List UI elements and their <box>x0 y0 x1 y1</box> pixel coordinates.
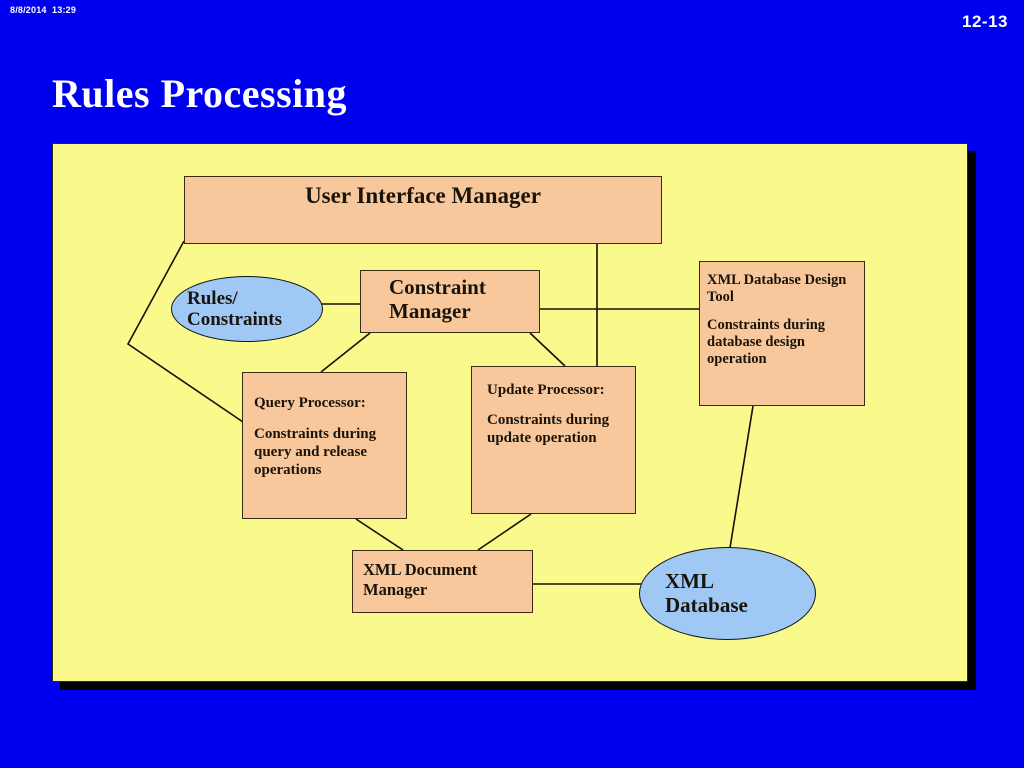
node-xml-database-design-tool[interactable]: XML Database Design Tool Constraints dur… <box>699 261 865 406</box>
slide-datetime: 8/8/2014 13:29 <box>10 5 76 15</box>
node-uim-title: User Interface Manager <box>185 183 661 209</box>
node-xmldbtool-body: Constraints during database design opera… <box>707 317 856 368</box>
node-update-body: Constraints during update operation <box>487 411 629 447</box>
node-query-processor[interactable]: Query Processor: Constraints during quer… <box>242 372 407 519</box>
edge-constraint-query <box>321 333 370 372</box>
edge-update-xmldoc <box>478 514 531 550</box>
node-rules-line2: Constraints <box>187 309 282 330</box>
edge-xmldbtool-xmldb <box>729 406 753 554</box>
node-xml-document-manager[interactable]: XML Document Manager <box>352 550 533 613</box>
edge-constraint-update <box>530 333 565 366</box>
node-constraint-manager[interactable]: Constraint Manager <box>360 270 540 333</box>
node-xmldb-line1: XML <box>665 570 748 594</box>
node-query-title: Query Processor: <box>254 394 400 412</box>
node-query-body: Constraints during query and release ope… <box>254 425 400 479</box>
diagram-panel: User Interface Manager Rules/ Constraint… <box>52 143 968 682</box>
slide-canvas: 8/8/2014 13:29 12-13 Rules Processing <box>0 0 1024 768</box>
node-xmldb-line2: Database <box>665 594 748 618</box>
node-user-interface-manager[interactable]: User Interface Manager <box>184 176 662 244</box>
node-rules-line1: Rules/ <box>187 288 282 309</box>
diagram-canvas: User Interface Manager Rules/ Constraint… <box>53 144 967 681</box>
node-xml-database[interactable]: XML Database <box>639 547 816 640</box>
node-update-title: Update Processor: <box>487 381 629 399</box>
page-title: Rules Processing <box>52 70 347 117</box>
node-update-processor[interactable]: Update Processor: Constraints during upd… <box>471 366 636 514</box>
edge-query-xmldoc <box>356 519 403 550</box>
node-rules-constraints[interactable]: Rules/ Constraints <box>171 276 323 342</box>
node-xmldoc-line2: Manager <box>363 580 526 600</box>
node-constraint-line1: Constraint <box>389 275 539 299</box>
node-xmldbtool-title: XML Database Design Tool <box>707 272 856 306</box>
node-constraint-line2: Manager <box>389 299 539 323</box>
node-xmldoc-line1: XML Document <box>363 560 526 580</box>
slide-page-number: 12-13 <box>962 12 1008 32</box>
